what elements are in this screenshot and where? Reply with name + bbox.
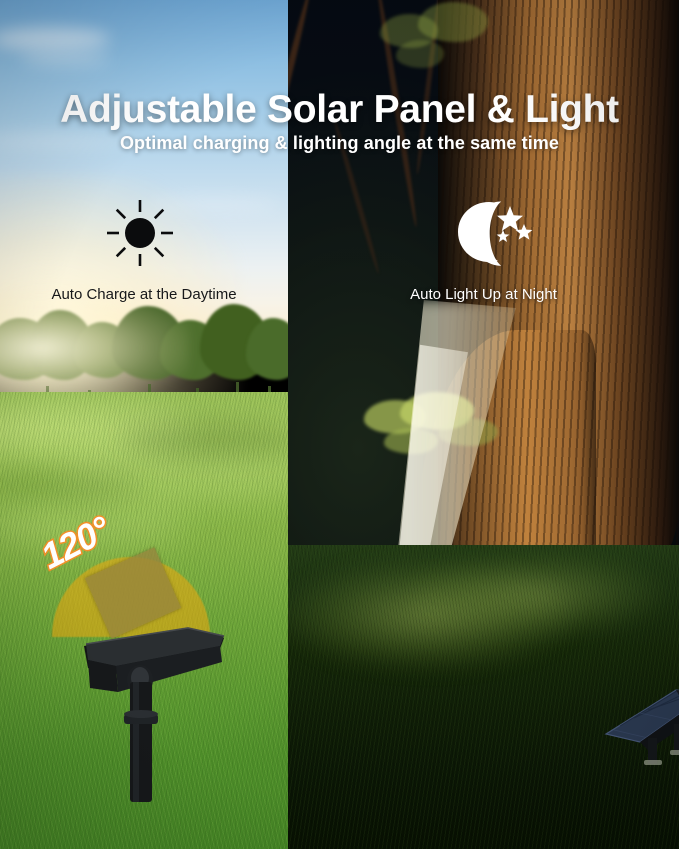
solar-light-fixture-day (78, 618, 228, 808)
page-subtitle: Optimal charging & lighting angle at the… (0, 133, 679, 154)
solar-light-fixture-night (604, 660, 679, 770)
horizon-glow (0, 288, 190, 408)
sun-icon (105, 198, 175, 268)
feature-label-day: Auto Charge at the Daytime (0, 286, 288, 303)
page-title: Adjustable Solar Panel & Light (0, 88, 679, 132)
moon-stars-icon (450, 198, 540, 268)
product-feature-poster: 120° (0, 0, 679, 849)
feature-label-night: Auto Light Up at Night (288, 286, 679, 303)
